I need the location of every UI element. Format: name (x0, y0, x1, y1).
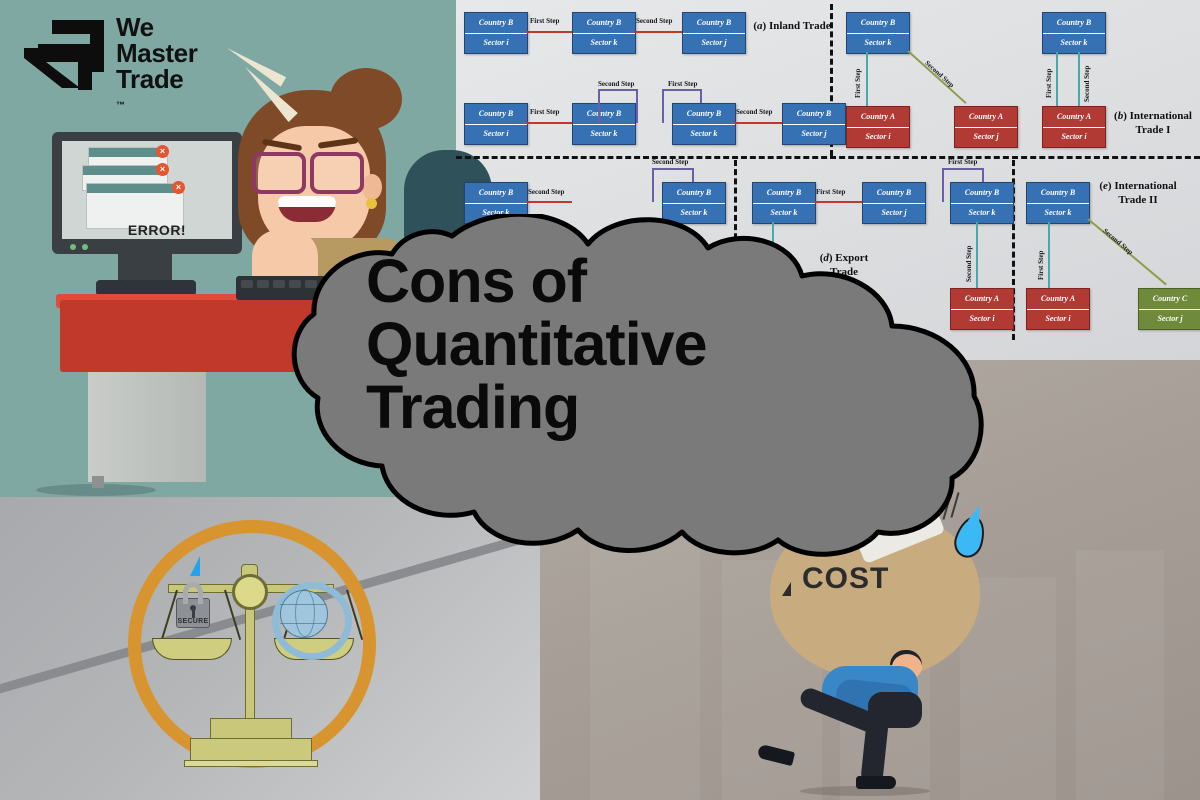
node-sector-label: Sector k (1027, 204, 1089, 224)
headline-text: Cons of Quantitative Trading (366, 250, 866, 438)
connector-first-step (526, 122, 572, 124)
headline-line-2: Quantitative (366, 313, 866, 376)
node-country-b-sector-j: Country B Sector j (682, 12, 746, 54)
node-country-c-sector-j: Country C Sector j (1138, 288, 1200, 330)
desk-leg (88, 372, 206, 482)
computer-monitor: × × ERROR! × (52, 132, 242, 254)
node-country-b-sector-i: Country B Sector i (464, 103, 528, 145)
node-country-label: Country B (683, 13, 745, 34)
step-label-second: Second Step (528, 188, 564, 196)
step-label-second: Second Step (923, 59, 955, 89)
padlock-shackle (183, 582, 203, 604)
connector-first-step-vertical (866, 52, 868, 106)
character-hair-bun (330, 68, 402, 130)
connector-first-step (814, 201, 862, 203)
node-country-a-sector-i: Country A Sector i (846, 106, 910, 148)
node-country-label: Country C (1139, 289, 1200, 310)
caption-label: International Trade I (1130, 110, 1192, 136)
step-label-second: Second Step (652, 158, 688, 166)
connector-second-step (734, 122, 782, 124)
error-window-main: ERROR! (86, 183, 184, 229)
brand-line-1: We (116, 14, 197, 40)
headline-line-3: Trading (366, 376, 866, 439)
padlock-keyhole-slot (192, 610, 195, 618)
balance-scale-icon-group: SECURE (128, 520, 398, 790)
node-country-b-sector-k: Country B Sector k (846, 12, 910, 54)
caption-inland-trade: (a) Inland Trade (752, 20, 832, 34)
earring (366, 198, 377, 209)
node-country-label: Country B (663, 183, 725, 204)
node-country-a-sector-i: Country A Sector i (1042, 106, 1106, 148)
arrow-chevron-logo-icon (22, 18, 106, 92)
scale-base-bottom (184, 760, 318, 767)
headline-line-1: Cons of (366, 250, 866, 313)
desk-foot (92, 476, 104, 488)
headline-cloud: Cons of Quantitative Trading (216, 214, 996, 560)
node-country-label: Country B (1027, 183, 1089, 204)
node-country-label: Country A (1043, 107, 1105, 128)
node-sector-label: Sector j (955, 128, 1017, 148)
step-label-second: Second Step (636, 17, 672, 25)
node-country-label: Country B (847, 13, 909, 34)
connector-first-step-vertical (1048, 222, 1050, 288)
skyline-block (590, 538, 700, 800)
power-led (70, 244, 76, 250)
connector-second-step (526, 201, 572, 203)
step-label-first: First Step (668, 80, 697, 88)
step-label-first: First Step (1037, 251, 1045, 280)
error-text: ERROR! (117, 222, 197, 238)
sack-label-marker (782, 582, 791, 596)
monitor-screen: × × ERROR! × (62, 141, 232, 239)
node-sector-label: Sector i (1027, 310, 1089, 330)
step-label-second: Second Step (736, 108, 772, 116)
cost-label: COST (802, 562, 889, 596)
node-sector-label: Sector k (673, 125, 735, 145)
connector-first-step (526, 31, 572, 33)
caption-label: Inland Trade (769, 20, 831, 32)
globe-icon (280, 590, 328, 638)
monitor-stand (118, 250, 172, 284)
node-country-label: Country B (465, 104, 527, 125)
step-label-first: First Step (816, 188, 845, 196)
poster-canvas: × × ERROR! × (0, 0, 1200, 800)
node-sector-label: Sector j (1139, 310, 1200, 330)
node-country-label: Country A (1027, 289, 1089, 310)
step-label-second: Second Step (598, 80, 634, 88)
diagram-divider (456, 156, 836, 159)
node-sector-label: Sector k (847, 34, 909, 54)
caption-label: International Trade II (1114, 180, 1176, 206)
node-sector-label: Sector i (847, 128, 909, 148)
close-x-icon: × (156, 163, 169, 176)
connector-second-step (634, 31, 682, 33)
node-country-label: Country B (465, 183, 527, 204)
close-x-icon: × (172, 181, 185, 194)
close-x-icon: × (156, 145, 169, 158)
figure-shoe-back (757, 744, 795, 766)
node-country-label: Country B (753, 183, 815, 204)
step-label-first: First Step (948, 158, 977, 166)
caption-international-trade-1: (b) International Trade I (1106, 110, 1200, 138)
step-label-first: First Step (1045, 69, 1053, 98)
node-country-label: Country B (863, 183, 925, 204)
node-country-a-sector-i: Country A Sector i (1026, 288, 1090, 330)
node-sector-label: Sector k (573, 34, 635, 54)
lens-right (310, 152, 364, 194)
eyeglasses-icon (252, 152, 368, 186)
node-sector-label: Sector k (1043, 34, 1105, 54)
self-loop-second-step (598, 89, 638, 123)
trademark-symbol: ™ (116, 92, 197, 118)
node-country-b-sector-k: Country B Sector k (572, 12, 636, 54)
step-label-first: First Step (854, 69, 862, 98)
node-sector-label: Sector i (1043, 128, 1105, 148)
diagram-divider (830, 156, 1200, 159)
node-country-label: Country B (1043, 13, 1105, 34)
node-country-b-sector-i: Country B Sector i (464, 12, 528, 54)
power-led (82, 244, 88, 250)
scale-pivot (232, 574, 268, 610)
node-sector-label: Sector i (465, 125, 527, 145)
node-country-label: Country A (847, 107, 909, 128)
scale-pan-left (152, 638, 232, 660)
node-country-label: Country B (951, 183, 1013, 204)
node-country-label: Country A (955, 107, 1017, 128)
node-country-label: Country B (465, 13, 527, 34)
step-label-second: Second Step (1083, 66, 1091, 102)
node-sector-label: Sector j (683, 34, 745, 54)
step-label-first: First Step (530, 17, 559, 25)
brand-wordmark: We Master Trade™ (116, 14, 197, 118)
node-country-label: Country B (673, 104, 735, 125)
node-sector-label: Sector j (783, 125, 845, 145)
node-country-label: Country B (783, 104, 845, 125)
brand-logo[interactable]: We Master Trade™ (22, 14, 252, 100)
brand-line-2: Master (116, 40, 197, 66)
lens-left (252, 152, 306, 194)
node-country-b-sector-k: Country B Sector k (1026, 182, 1090, 224)
caption-international-trade-2: (e) International Trade II (1088, 180, 1188, 208)
node-sector-label: Sector i (465, 34, 527, 54)
brand-line-3: Trade (116, 66, 197, 92)
node-country-b-sector-j: Country B Sector j (782, 103, 846, 145)
node-country-b-sector-k: Country B Sector k (672, 103, 736, 145)
node-country-a-sector-j: Country A Sector j (954, 106, 1018, 148)
step-label-first: First Step (530, 108, 559, 116)
blue-arrow-accent (190, 556, 200, 576)
connector-second-step-vertical (1078, 52, 1080, 106)
connector-first-step-vertical (1056, 52, 1058, 106)
figure-shoe-front (856, 776, 896, 789)
secure-label: SECURE (173, 618, 213, 625)
node-country-label: Country B (573, 13, 635, 34)
step-label-second: Second Step (1101, 227, 1134, 257)
node-country-b-sector-k: Country B Sector k (1042, 12, 1106, 54)
node-sector-label: Sector k (573, 125, 635, 145)
